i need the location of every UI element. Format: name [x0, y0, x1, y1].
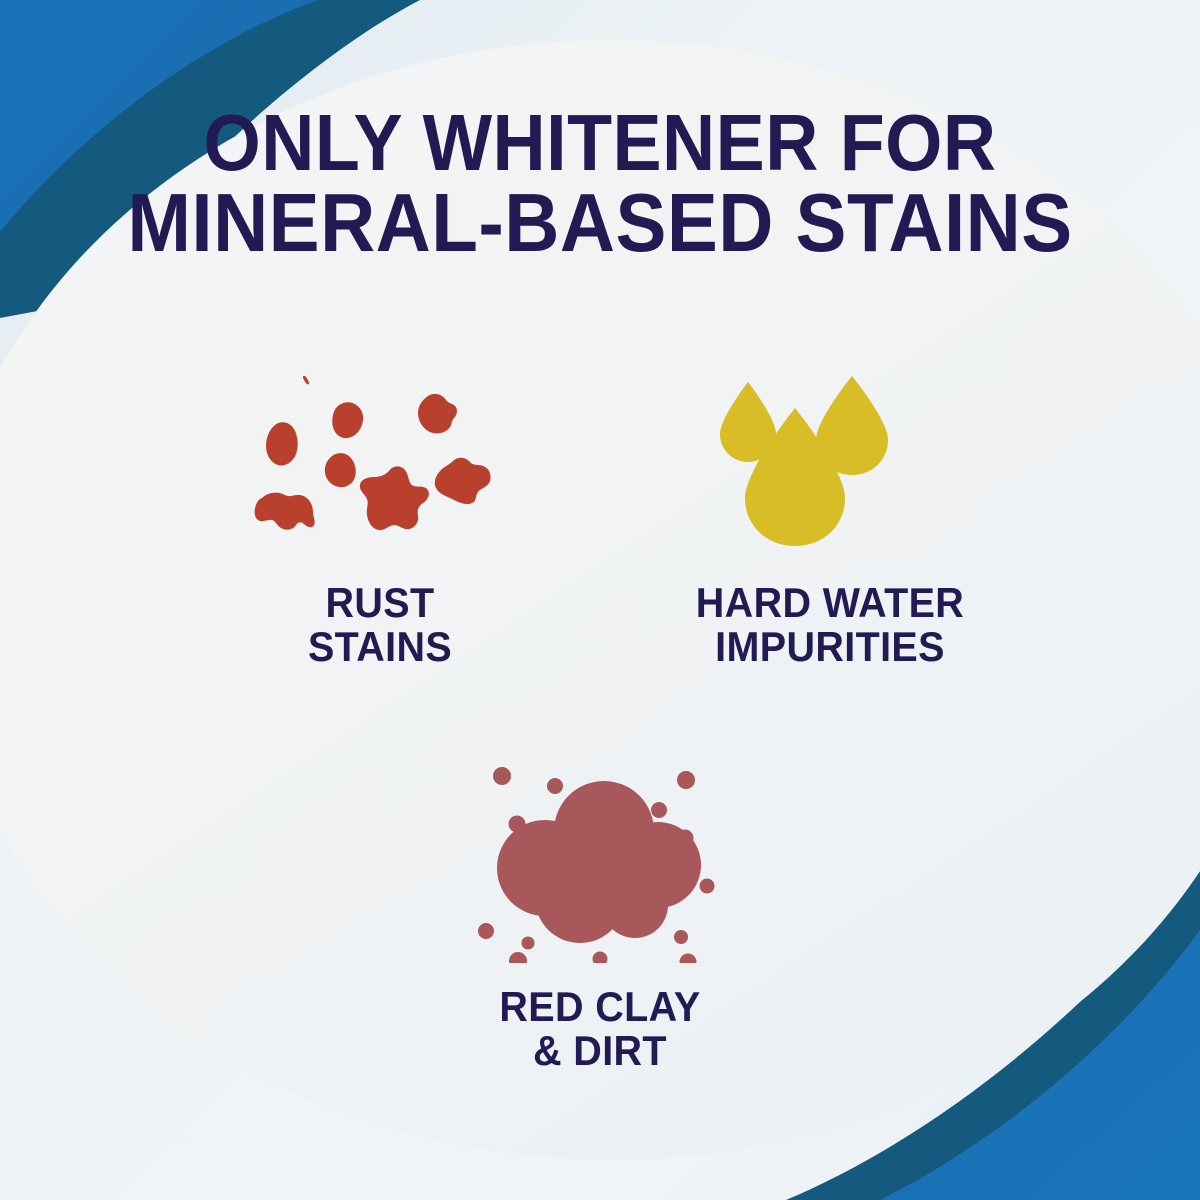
benefit-label-hard-water: HARD WATER IMPURITIES: [633, 581, 1028, 669]
benefit-label-hard-water-line-2: IMPURITIES: [633, 625, 1028, 669]
dirt-cloud-icon: [460, 748, 740, 963]
rust-stain-splatter-icon: [240, 368, 520, 553]
benefit-label-red-clay-line-2: & DIRT: [403, 1029, 798, 1073]
content-area: ONLY WHITENER FOR MINERAL-BASED STAINS: [0, 0, 1200, 1200]
benefit-label-rust: RUST STAINS: [183, 581, 578, 669]
benefit-label-rust-line-2: STAINS: [183, 625, 578, 669]
benefit-item-rust: RUST STAINS: [170, 368, 590, 669]
dirt-cloud-body: [497, 781, 701, 943]
benefit-label-red-clay: RED CLAY & DIRT: [403, 985, 798, 1073]
infographic-canvas: ONLY WHITENER FOR MINERAL-BASED STAINS: [0, 0, 1200, 1200]
benefit-item-red-clay: RED CLAY & DIRT: [390, 748, 810, 1073]
benefit-label-red-clay-line-1: RED CLAY: [403, 985, 798, 1029]
benefit-label-hard-water-line-1: HARD WATER: [633, 581, 1028, 625]
benefit-item-list: RUST STAINS: [0, 0, 1200, 1200]
water-droplets-icon: [690, 368, 970, 553]
benefit-item-hard-water: HARD WATER IMPURITIES: [620, 368, 1040, 669]
benefit-label-rust-line-1: RUST: [183, 581, 578, 625]
